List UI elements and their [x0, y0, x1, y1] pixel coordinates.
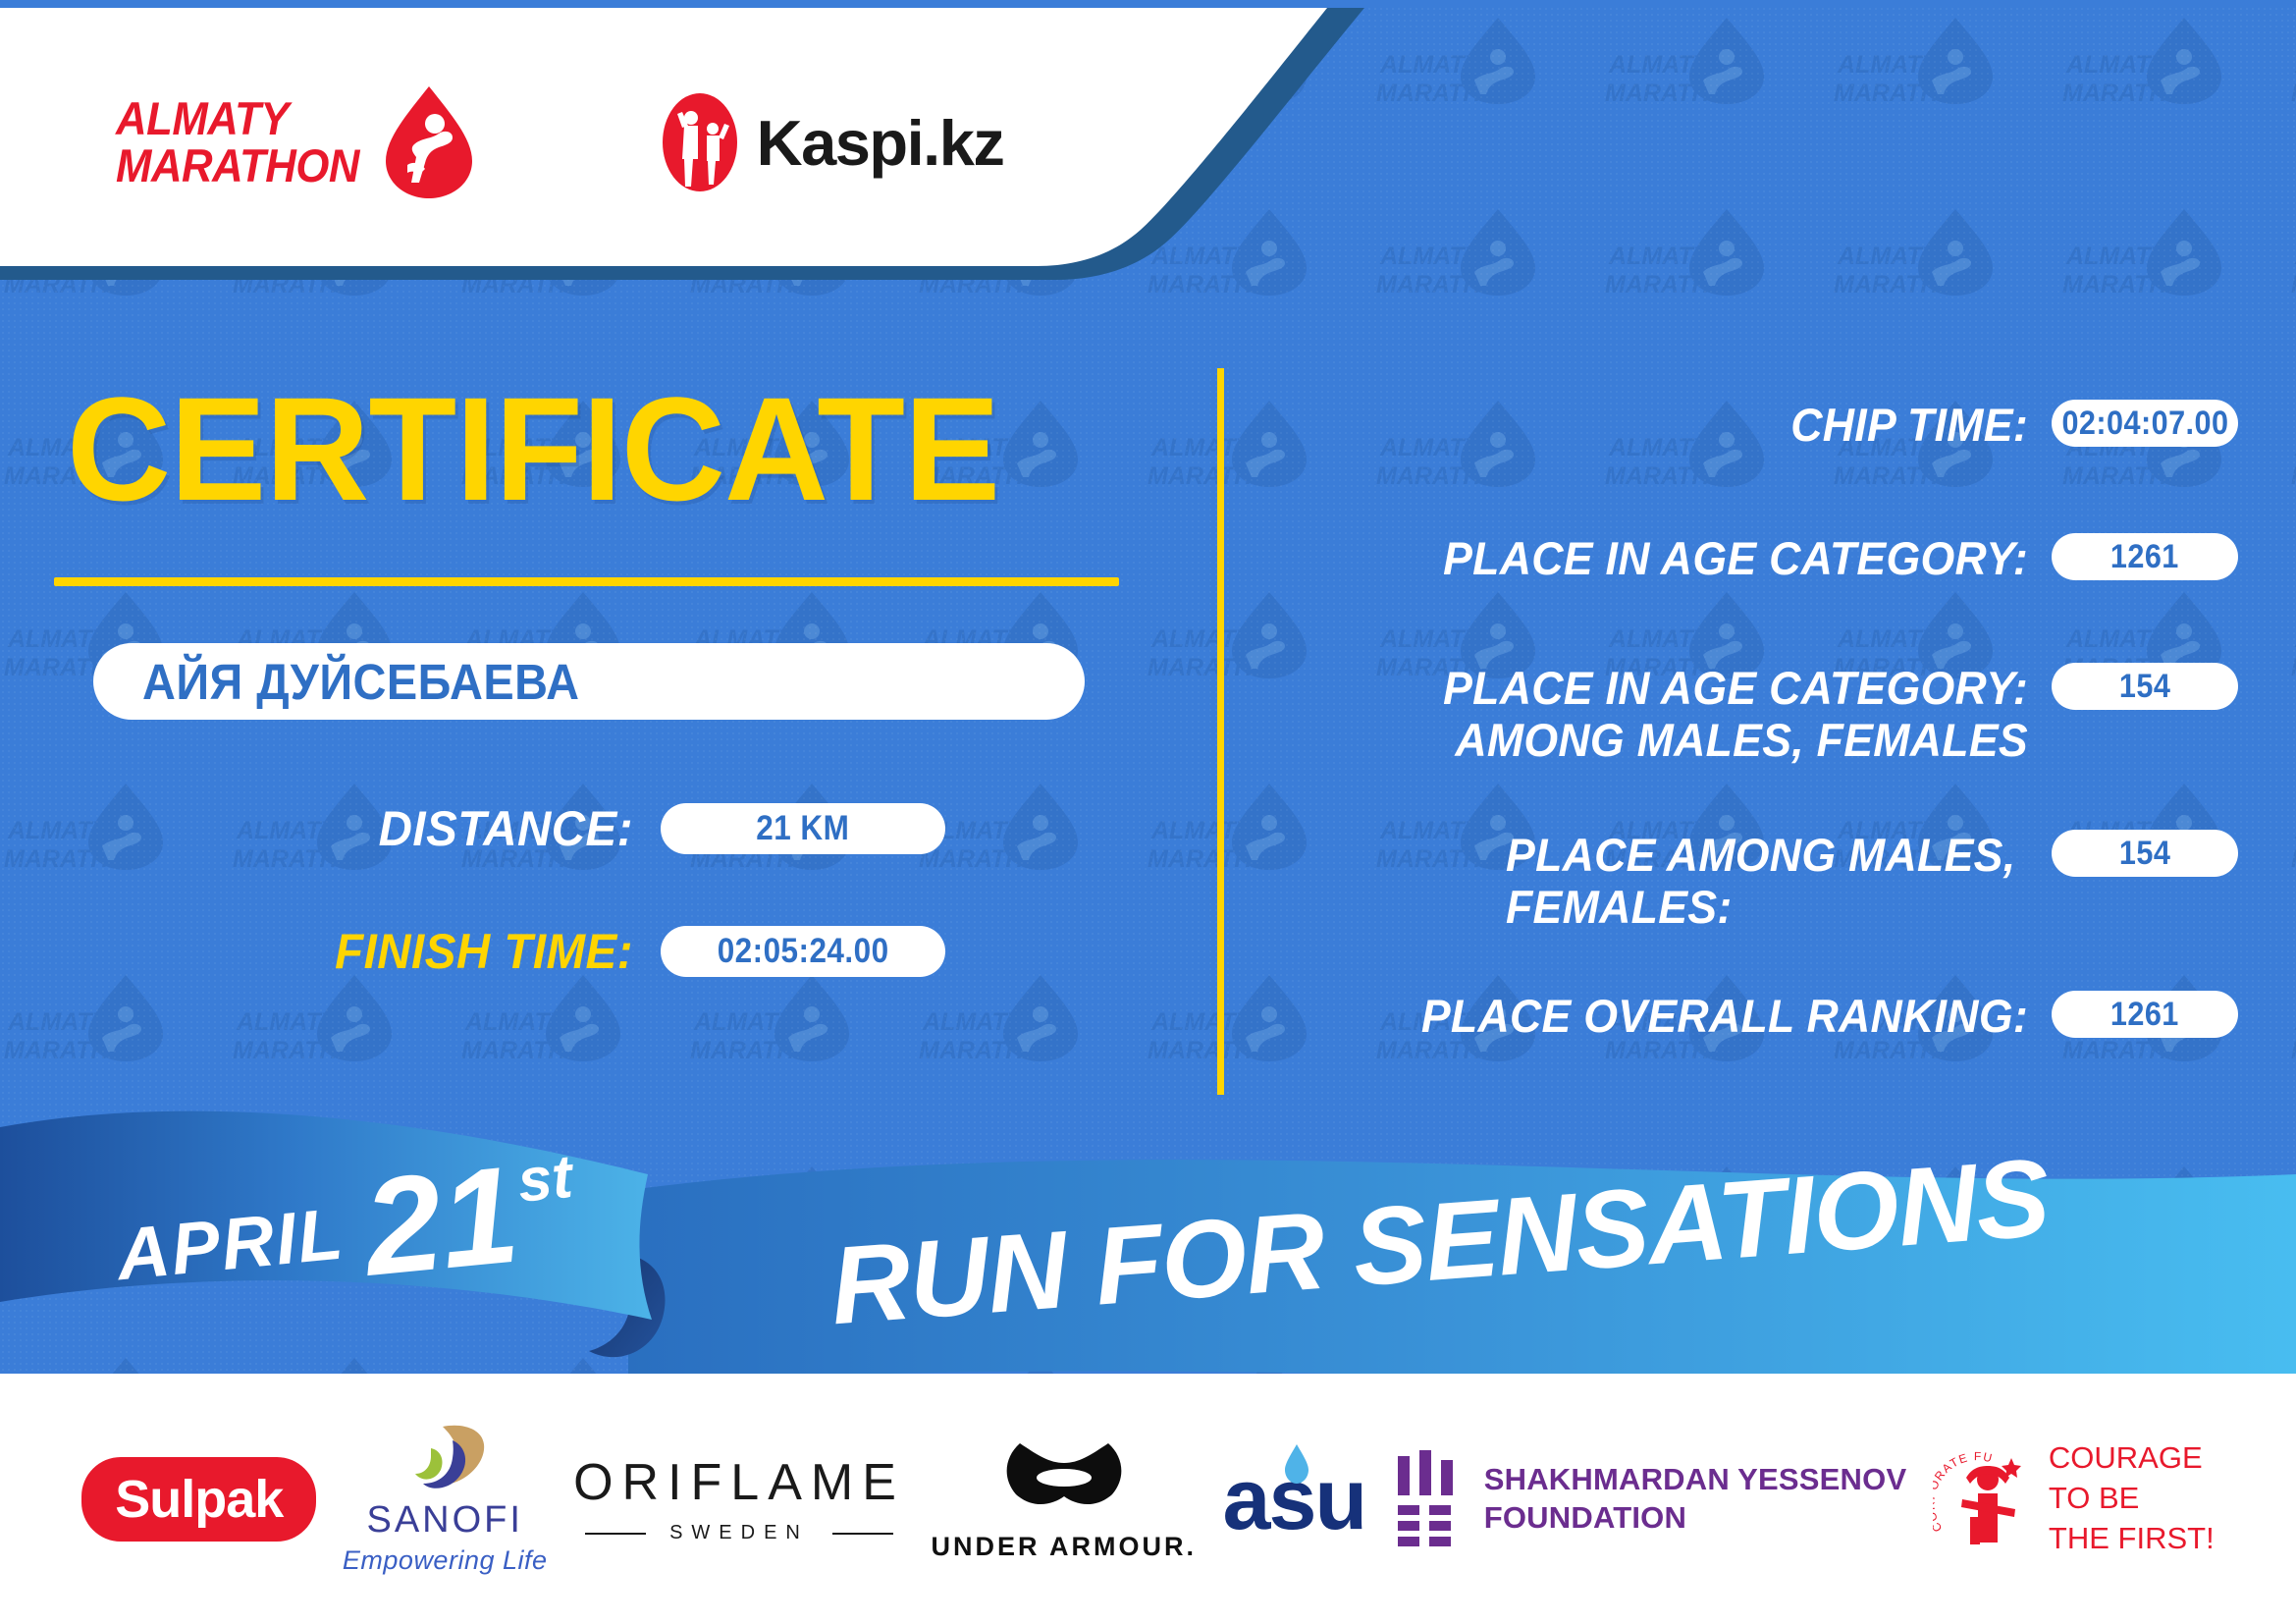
courage-line-3: THE FIRST!	[2049, 1519, 2215, 1559]
kaspi-person-icon	[661, 92, 739, 192]
stat-value: 154	[2119, 668, 2170, 706]
finish-time-value: 02:05:24.00	[718, 932, 889, 971]
stat-row: PLACE IN AGE CATEGORY: AMONG MALES, FEMA…	[1266, 663, 2238, 766]
under-armour-wordmark: UNDER ARMOUR.	[931, 1532, 1197, 1562]
distance-row: DISTANCE: 21 KM	[270, 800, 945, 857]
participant-name-value: АЙЯ ДУЙСЕБАЕВА	[142, 653, 579, 711]
yessenov-line-1: SHAKHMARDAN YESSENOV	[1484, 1461, 1907, 1499]
finish-time-label: FINISH TIME:	[209, 923, 633, 980]
kaspi-logo: Kaspi.kz	[661, 92, 1004, 192]
event-month: APRIL	[113, 1191, 347, 1296]
title-underline	[54, 577, 1119, 586]
divider-line-left	[585, 1533, 646, 1535]
finish-time-row: FINISH TIME: 02:05:24.00	[187, 923, 945, 980]
under-armour-icon	[990, 1435, 1138, 1526]
sulpak-wordmark: Sulpak	[115, 1469, 283, 1530]
divider-line-right	[832, 1533, 893, 1535]
stat-label: PLACE IN AGE CATEGORY:	[1375, 533, 2028, 585]
courage-runner-icon: CORPORATE FUND	[1933, 1444, 2035, 1554]
stat-value: 154	[2119, 835, 2170, 873]
yessenov-line-2: FOUNDATION	[1484, 1499, 1907, 1538]
stat-row: PLACE AMONG MALES, FEMALES: 154	[1266, 830, 2238, 933]
almaty-line-1: ALMATY	[116, 95, 359, 142]
vertical-divider	[1217, 368, 1224, 1095]
sponsor-oriflame: ORIFLAME SWEDEN	[573, 1453, 905, 1544]
finish-time-value-pill: 02:05:24.00	[661, 926, 945, 977]
runner-drop-icon	[384, 84, 474, 200]
page-title: CERTIFICATE	[67, 375, 999, 522]
event-day-suffix: st	[515, 1147, 575, 1213]
asu-drop-icon	[1282, 1442, 1311, 1486]
courage-wordmark: COURAGE TO BE THE FIRST!	[2049, 1438, 2215, 1559]
almaty-marathon-logo: ALMATY MARATHON	[116, 84, 474, 200]
distance-value: 21 KM	[756, 809, 849, 848]
stat-value-pill: 1261	[2052, 991, 2238, 1038]
almaty-marathon-wordmark: ALMATY MARATHON	[116, 95, 359, 189]
sanofi-mark-icon	[398, 1423, 492, 1495]
distance-value-pill: 21 KM	[661, 803, 945, 854]
event-day: 21	[359, 1152, 523, 1289]
oriflame-wordmark: ORIFLAME	[573, 1453, 905, 1512]
sponsor-sulpak: Sulpak	[81, 1457, 316, 1542]
stat-label: PLACE AMONG MALES, FEMALES:	[1506, 830, 2028, 933]
sponsor-sanofi: SANOFI Empowering Life	[343, 1423, 548, 1576]
sponsor-footer: Sulpak SANOFI Empowering Life ORIFLAME S…	[0, 1374, 2296, 1624]
header-logos: ALMATY MARATHON Kaspi.kz	[0, 0, 1227, 285]
certificate-page: ALMATY MARATHON Kaspi.kz CER	[0, 0, 2296, 1624]
participant-name-field: АЙЯ ДУЙСЕБАЕВА	[93, 643, 1085, 720]
stat-value-pill: 154	[2052, 663, 2238, 710]
stat-value-pill: 154	[2052, 830, 2238, 877]
stat-row: PLACE OVERALL RANKING: 1261	[1266, 991, 2238, 1043]
stat-value-pill: 02:04:07.00	[2052, 400, 2238, 447]
stat-value: 1261	[2110, 538, 2179, 576]
oriflame-sub-row: SWEDEN	[573, 1522, 905, 1544]
stat-value: 1261	[2110, 996, 2179, 1034]
stat-label: PLACE OVERALL RANKING:	[1375, 991, 2028, 1043]
stat-value: 02:04:07.00	[2061, 405, 2228, 443]
yessenov-wordmark: SHAKHMARDAN YESSENOV FOUNDATION	[1484, 1461, 1907, 1538]
sanofi-tagline: Empowering Life	[343, 1545, 548, 1576]
sponsor-courage-to-be-first: CORPORATE FUND COURAGE TO BE THE FIRST!	[1933, 1438, 2215, 1559]
sponsor-asu: asu	[1223, 1456, 1366, 1543]
stat-value-pill: 1261	[2052, 533, 2238, 580]
distance-label: DISTANCE:	[289, 800, 634, 857]
stat-row: CHIP TIME: 02:04:07.00	[1266, 400, 2238, 452]
stat-row: PLACE IN AGE CATEGORY: 1261	[1266, 533, 2238, 585]
stat-label: PLACE IN AGE CATEGORY: AMONG MALES, FEMA…	[1375, 663, 2028, 766]
courage-line-2: TO BE	[2049, 1479, 2215, 1519]
sponsor-yessenov-foundation: SHAKHMARDAN YESSENOV FOUNDATION	[1392, 1450, 1907, 1548]
sanofi-wordmark: SANOFI	[366, 1499, 522, 1542]
almaty-line-2: MARATHON	[116, 142, 359, 189]
sponsor-under-armour: UNDER ARMOUR.	[931, 1435, 1197, 1562]
oriflame-country: SWEDEN	[669, 1522, 809, 1544]
kaspi-wordmark: Kaspi.kz	[757, 106, 1004, 180]
courage-line-1: COURAGE	[2049, 1438, 2215, 1479]
stat-label: CHIP TIME:	[1524, 400, 2028, 452]
yessenov-bars-icon	[1392, 1450, 1463, 1548]
